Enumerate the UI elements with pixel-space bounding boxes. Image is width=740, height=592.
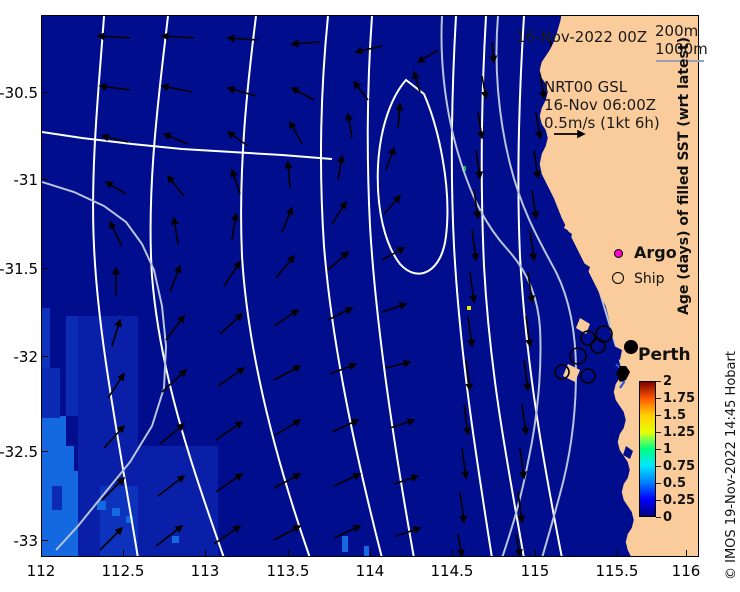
x-axis-label: 114 (335, 562, 405, 580)
colorbar-tick (656, 517, 661, 518)
colorbar-tick (656, 398, 661, 399)
x-axis-tick (123, 550, 124, 557)
x-axis-label: 116 (651, 562, 721, 580)
x-axis-tick (617, 550, 618, 557)
y-axis-tick (41, 540, 48, 541)
colorbar-tick (656, 449, 661, 450)
figure-root: 16-Nov-2022 00Z 200m 1000m NRT00 GSL 16-… (0, 0, 740, 592)
colorbar-tick (656, 432, 661, 433)
x-axis-label: 115 (500, 562, 570, 580)
colorbar-tick (656, 466, 661, 467)
y-axis-label: -30.5 (0, 84, 38, 102)
colorbar-tick (656, 415, 661, 416)
colorbar-tick-label: 2 (663, 374, 672, 389)
ship-marker-icon (612, 272, 624, 284)
colorbar-tick-label: 0.75 (663, 459, 695, 474)
y-axis-label: -31.5 (0, 260, 38, 278)
colorbar-gradient (639, 381, 656, 517)
colorbar-tick-label: 1.25 (663, 425, 695, 440)
y-axis-label: -31 (0, 171, 38, 189)
argo-marker-icon (614, 249, 623, 258)
y-axis-tick (41, 268, 48, 269)
y-axis-tick (41, 451, 48, 452)
x-axis-label: 112.5 (88, 562, 158, 580)
colorbar-tick (656, 483, 661, 484)
city-label-perth: Perth (638, 345, 691, 365)
colorbar-tick-label: 1 (663, 442, 672, 457)
colorbar-tick-label: 0 (663, 510, 672, 525)
x-axis-tick (41, 550, 42, 557)
y-axis-tick (41, 356, 48, 357)
x-axis-tick (452, 550, 453, 557)
colorbar-tick (656, 381, 661, 382)
x-axis-label: 113.5 (253, 562, 323, 580)
credit-text: © IMOS 19-Nov-2022 14:45 Hobart (724, 290, 739, 580)
x-axis-label: 115.5 (582, 562, 652, 580)
y-axis-label: -33 (0, 532, 38, 550)
x-axis-tick (370, 550, 371, 557)
velocity-scale-arrow-icon (552, 128, 592, 140)
colorbar-title: Age (days) of filled SST (wrt latest) (676, 65, 692, 315)
y-axis-tick (41, 92, 48, 93)
colorbar-tick-label: 0.25 (663, 493, 695, 508)
argo-legend-label: Argo (634, 243, 677, 262)
x-axis-label: 113 (170, 562, 240, 580)
colorbar-tick-label: 1.75 (663, 391, 695, 406)
ship-legend-label: Ship (634, 271, 665, 287)
x-axis-tick (686, 550, 687, 557)
x-axis-tick (535, 550, 536, 557)
colorbar-tick (656, 500, 661, 501)
x-axis-label: 114.5 (417, 562, 487, 580)
x-axis-tick (288, 550, 289, 557)
x-axis-label: 112 (6, 562, 76, 580)
y-axis-tick (41, 179, 48, 180)
date-stamp: 16-Nov-2022 00Z (516, 28, 647, 46)
colorbar-tick-label: 0.5 (663, 476, 686, 491)
product-name-label: NRT00 GSL (544, 78, 627, 96)
y-axis-label: -32 (0, 348, 38, 366)
product-time-label: 16-Nov 06:00Z (544, 96, 656, 114)
y-axis-label: -32.5 (0, 443, 38, 461)
city-marker-perth-icon (624, 340, 638, 354)
x-axis-tick (205, 550, 206, 557)
colorbar-tick-label: 1.5 (663, 408, 686, 423)
